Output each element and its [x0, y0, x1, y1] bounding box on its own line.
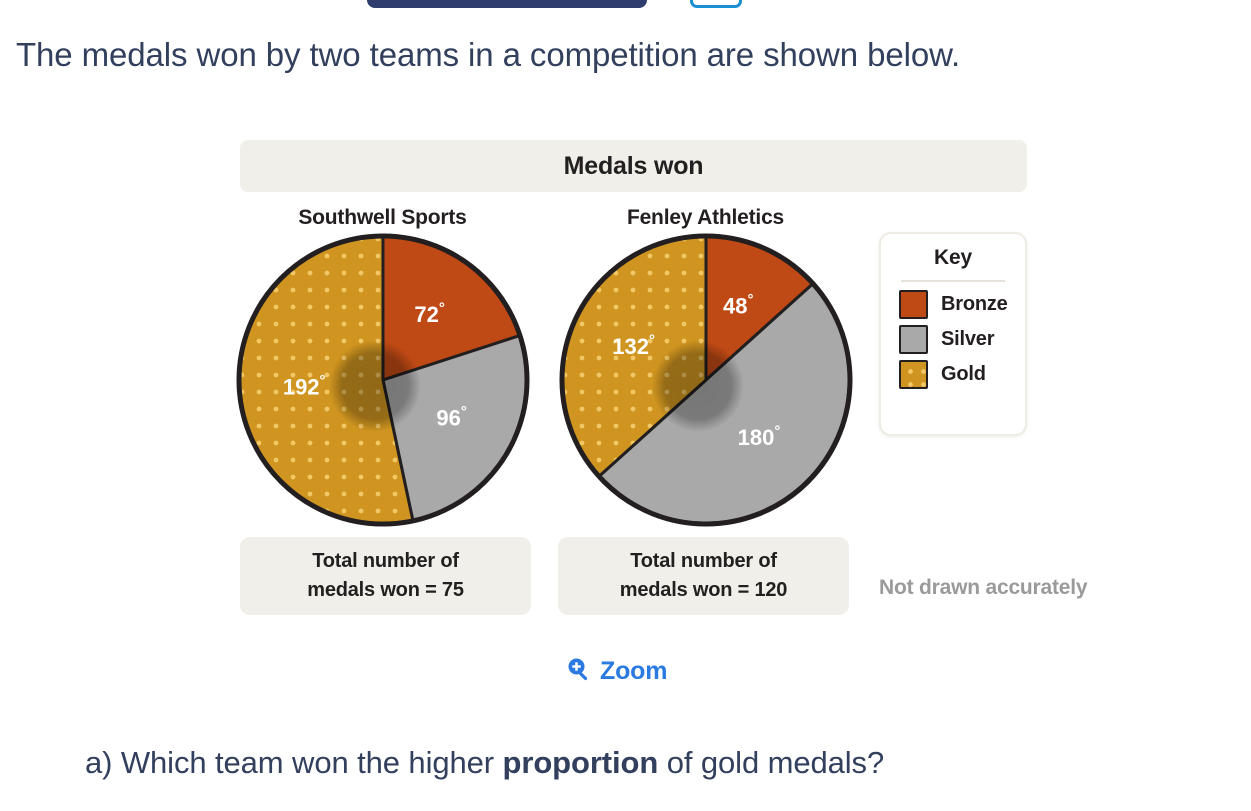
not-drawn-accurately-note: Not drawn accurately [879, 576, 1179, 600]
key-item-silver: Silver [899, 325, 1025, 354]
total-line-1: Total number of [630, 547, 777, 576]
total-line-2: medals won = 120 [620, 576, 787, 605]
key-swatch-gold [899, 360, 928, 389]
zoom-label: Zoom [600, 657, 667, 686]
prompt-text: The medals won by two teams in a competi… [16, 36, 1246, 74]
key-item-bronze: Bronze [899, 290, 1025, 319]
chart-key: Key Bronze Silver Gold [879, 232, 1027, 436]
pie-slice-label-gold: 132° [612, 332, 655, 359]
page-root: allowed The medals won by two teams in a… [0, 0, 1251, 811]
question-bold: proportion [503, 745, 659, 780]
chart-figure: Medals won Southwell Sports Fenley Athle… [0, 128, 1251, 648]
total-box-0: Total number of medals won = 75 [240, 537, 531, 615]
pie-center-shadow [652, 340, 744, 432]
question-a: a) Which team won the higher proportion … [85, 745, 884, 781]
pie-center-shadow [329, 340, 421, 432]
zoom-in-icon [566, 656, 592, 687]
total-box-1: Total number of medals won = 120 [558, 537, 849, 615]
pie-chart-fenley-athletics: 48°180°132° [560, 234, 852, 526]
calculator-icon [690, 0, 742, 8]
chart-title-bar: Medals won [240, 140, 1027, 192]
pie-title-1: Fenley Athletics [560, 206, 851, 230]
question-suffix: of gold medals? [658, 745, 884, 780]
key-item-gold: Gold [899, 360, 1025, 389]
question-prefix: a) Which team won the higher [85, 745, 503, 780]
zoom-button[interactable]: Zoom [566, 656, 667, 687]
key-title: Key [881, 246, 1025, 270]
key-swatch-bronze [899, 290, 928, 319]
total-line-1: Total number of [312, 547, 459, 576]
calculator-note: allowed [752, 0, 829, 6]
chart-title: Medals won [564, 152, 704, 181]
pie-svg-1: 48°180°132° [560, 234, 852, 526]
key-divider [901, 280, 1005, 282]
pie-chart-southwell-sports: 72°96°192° [237, 234, 529, 526]
pie-svg-0: 72°96°192° [237, 234, 529, 526]
pie-slice-label-silver: 180° [738, 423, 781, 450]
total-line-2: medals won = 75 [307, 576, 464, 605]
pie-slice-label-gold: 192° [283, 372, 326, 399]
key-label-silver: Silver [941, 328, 994, 351]
key-swatch-silver [899, 325, 928, 354]
key-label-bronze: Bronze [941, 293, 1008, 316]
primary-action-button[interactable] [367, 0, 647, 8]
key-label-gold: Gold [941, 363, 986, 386]
pie-title-0: Southwell Sports [237, 206, 528, 230]
